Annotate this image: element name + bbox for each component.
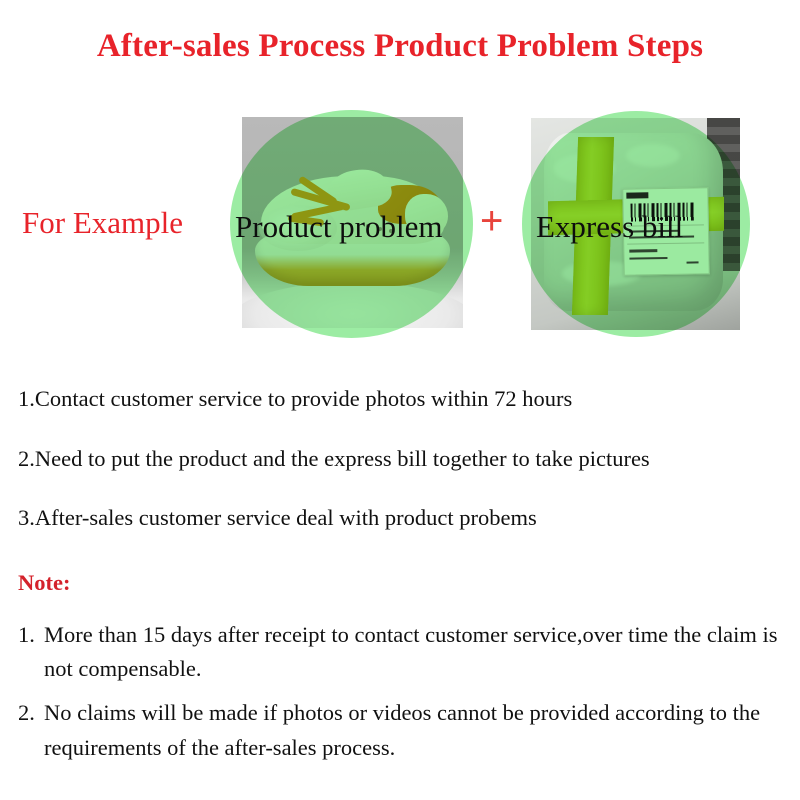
waybill-text-line (629, 249, 657, 252)
waybill-header-block (627, 193, 649, 199)
note-item-1: 1. More than 15 days after receipt to co… (18, 618, 793, 686)
note-heading: Note: (18, 570, 70, 596)
express-bill-caption: Express bill (536, 209, 683, 245)
step-item-3: 3.After-sales customer service deal with… (18, 507, 788, 530)
for-example-label: For Example (22, 205, 183, 241)
note-item-text: More than 15 days after receipt to conta… (44, 618, 793, 686)
after-sales-process-poster: After-sales Process Product Problem Step… (0, 0, 800, 800)
note-item-number: 2. (18, 696, 44, 764)
note-item-number: 1. (18, 618, 44, 686)
page-title: After-sales Process Product Problem Step… (0, 28, 800, 65)
product-problem-caption: Product problem (235, 209, 443, 245)
plus-icon: + (480, 201, 503, 241)
waybill-text-line (686, 261, 698, 263)
step-item-1: 1.Contact customer service to provide ph… (18, 388, 788, 411)
example-row: For Example (0, 100, 800, 350)
note-list: 1. More than 15 days after receipt to co… (18, 618, 793, 775)
steps-list: 1.Contact customer service to provide ph… (18, 388, 788, 567)
note-item-2: 2. No claims will be made if photos or v… (18, 696, 793, 764)
note-item-text: No claims will be made if photos or vide… (44, 696, 793, 764)
step-item-2: 2.Need to put the product and the expres… (18, 448, 788, 471)
bag-fold (626, 144, 680, 167)
waybill-text-line (629, 257, 667, 260)
